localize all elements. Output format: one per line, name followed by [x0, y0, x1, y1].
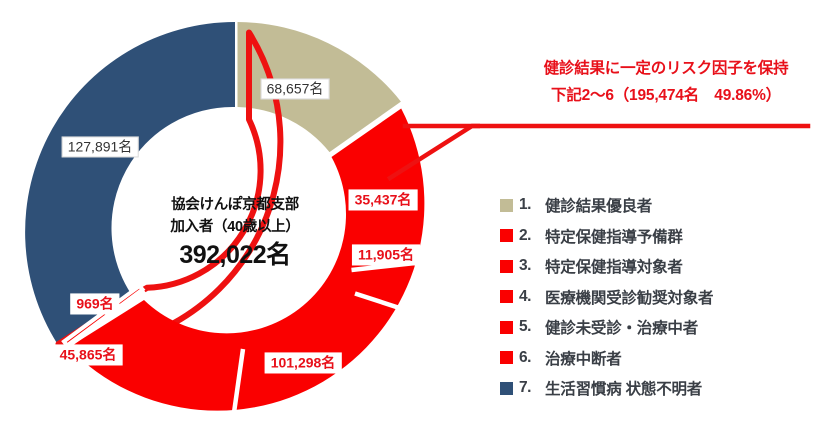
legend-number-7: 7.	[519, 379, 545, 397]
legend-label-6: 治療中断者	[545, 347, 622, 369]
callout-heading: 健診結果に一定のリスク因子を保持 下記2〜6（195,474名 49.86%）	[498, 56, 834, 109]
donut-center-text: 協会けんぽ京都支部 加入者（40歳以上） 392,022名	[135, 194, 335, 270]
legend-swatch-icon-1	[500, 199, 513, 212]
callout-heading-line-2: 下記2〜6（195,474名 49.86%）	[498, 83, 834, 110]
legend: 1. 健診結果優良者 2. 特定保健指導予備群 3. 特定保健指導対象者 4. …	[500, 190, 820, 404]
legend-label-5: 健診未受診・治療中者	[545, 316, 698, 338]
legend-label-3: 特定保健指導対象者	[545, 255, 683, 277]
legend-number-1: 1.	[519, 196, 545, 214]
legend-item-7[interactable]: 7. 生活習慣病 状態不明者	[500, 373, 820, 404]
legend-item-2[interactable]: 2. 特定保健指導予備群	[500, 221, 820, 252]
legend-label-4: 医療機関受診勧奨対象者	[545, 286, 713, 308]
legend-item-5[interactable]: 5. 健診未受診・治療中者	[500, 312, 820, 343]
legend-item-3[interactable]: 3. 特定保健指導対象者	[500, 251, 820, 282]
slice-label-5: 45,865名	[54, 344, 123, 365]
legend-swatch-icon-4	[500, 290, 513, 303]
legend-swatch-icon-2	[500, 229, 513, 242]
callout-heading-line-1: 健診結果に一定のリスク因子を保持	[498, 56, 834, 83]
legend-swatch-icon-7	[500, 382, 513, 395]
slice-label-3: 11,905名	[352, 244, 420, 265]
slice-label-7: 127,891名	[62, 136, 139, 157]
center-total: 392,022名	[135, 240, 335, 270]
legend-number-5: 5.	[519, 318, 545, 336]
slice-label-4: 101,298名	[265, 352, 342, 373]
legend-number-3: 3.	[519, 257, 545, 275]
legend-item-1[interactable]: 1. 健診結果優良者	[500, 190, 820, 221]
legend-item-4[interactable]: 4. 医療機関受診勧奨対象者	[500, 282, 820, 313]
slice-label-1: 68,657名	[261, 78, 330, 99]
slice-label-2: 35,437名	[349, 189, 418, 210]
legend-number-4: 4.	[519, 288, 545, 306]
infographic-root: 68,657名 127,891名 35,437名 11,905名 101,298…	[0, 0, 840, 447]
legend-swatch-icon-3	[500, 260, 513, 273]
donut-chart: 68,657名 127,891名 35,437名 11,905名 101,298…	[0, 0, 480, 447]
legend-number-6: 6.	[519, 349, 545, 367]
legend-swatch-icon-5	[500, 321, 513, 334]
legend-label-7: 生活習慣病 状態不明者	[545, 377, 702, 399]
legend-swatch-icon-6	[500, 351, 513, 364]
legend-label-1: 健診結果優良者	[545, 194, 652, 216]
center-line-2: 加入者（40歳以上）	[135, 217, 335, 239]
callout-leader-line-right	[400, 110, 840, 200]
legend-item-6[interactable]: 6. 治療中断者	[500, 343, 820, 374]
center-line-1: 協会けんぽ京都支部	[135, 194, 335, 216]
slice-label-6: 969名	[70, 293, 119, 314]
legend-label-2: 特定保健指導予備群	[545, 225, 683, 247]
legend-number-2: 2.	[519, 227, 545, 245]
